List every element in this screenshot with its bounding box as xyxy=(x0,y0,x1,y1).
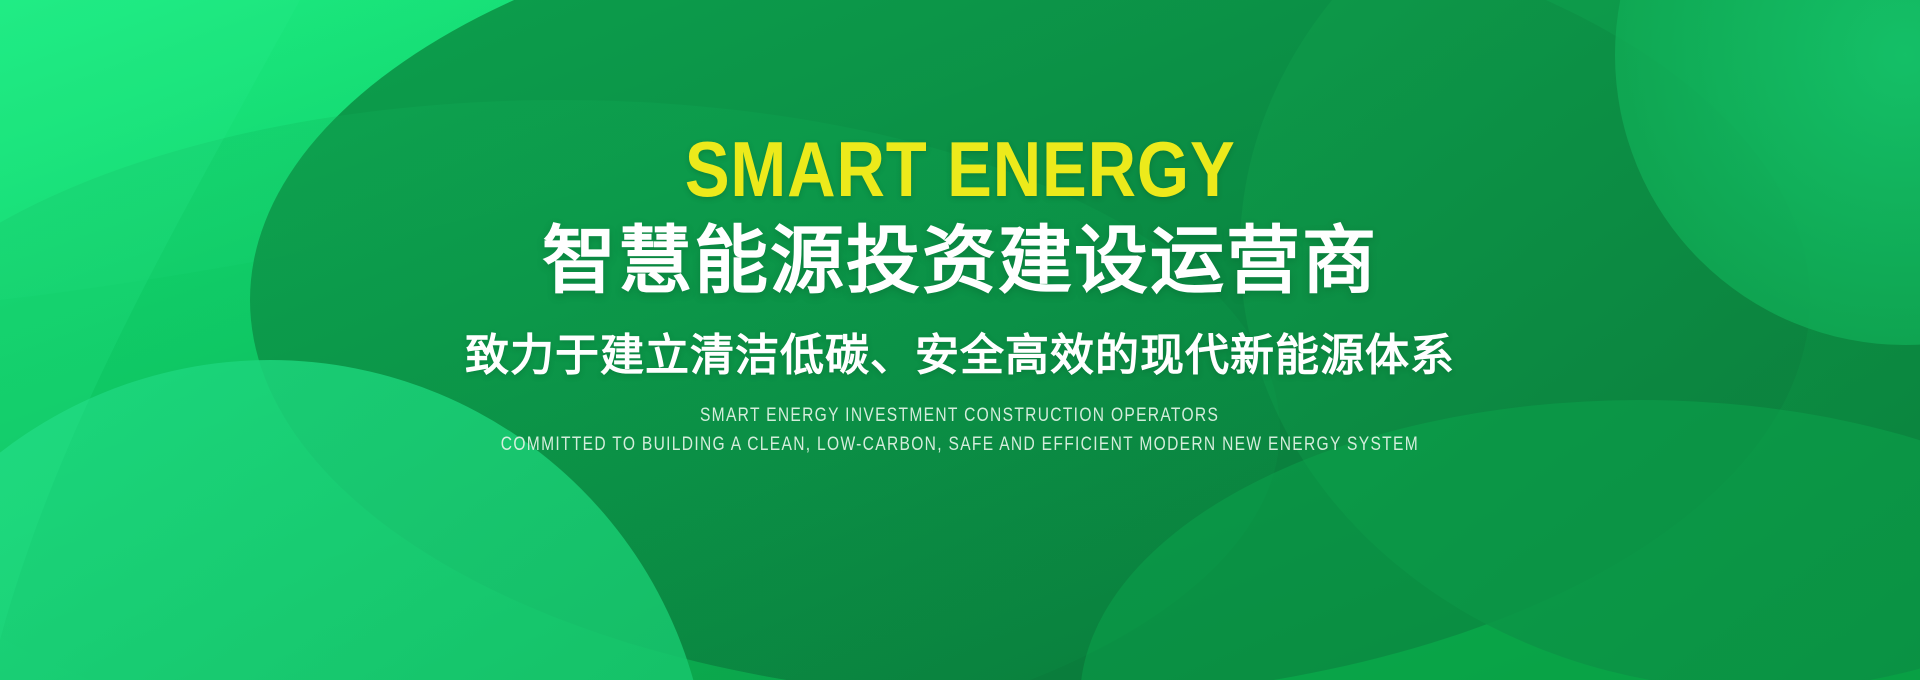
tagline-group: SMART ENERGY INVESTMENT CONSTRUCTION OPE… xyxy=(400,405,1520,456)
headline-chinese: 智慧能源投资建设运营商 xyxy=(542,223,1378,298)
tagline-line-2: COMMITTED TO BUILDING A CLEAN, LOW-CARBO… xyxy=(501,434,1419,456)
banner-content: SMART ENERGY 智慧能源投资建设运营商 致力于建立清洁低碳、安全高效的… xyxy=(0,0,1920,680)
headline-english: SMART ENERGY xyxy=(685,132,1236,207)
tagline-line-1: SMART ENERGY INVESTMENT CONSTRUCTION OPE… xyxy=(700,405,1219,427)
smart-energy-banner: SMART ENERGY 智慧能源投资建设运营商 致力于建立清洁低碳、安全高效的… xyxy=(0,0,1920,680)
subheadline-chinese: 致力于建立清洁低碳、安全高效的现代新能源体系 xyxy=(465,332,1455,380)
